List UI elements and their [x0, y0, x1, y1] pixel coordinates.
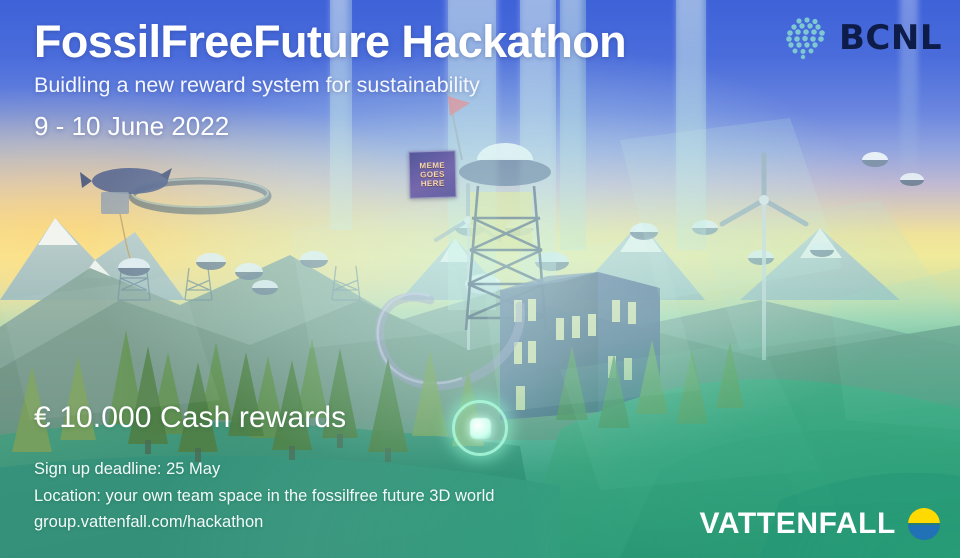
page-subtitle: Buidling a new reward system for sustain…	[34, 73, 794, 98]
hackathon-poster: MEME GOES HERE FossilFreeFuture Hackatho…	[0, 0, 960, 558]
page-title: FossilFreeFuture Hackathon	[34, 18, 794, 66]
vattenfall-logo: VATTENFALL	[699, 508, 940, 540]
vattenfall-mark-water	[908, 525, 940, 540]
location-text: Location: your own team space in the fos…	[34, 483, 734, 510]
signup-deadline-text: Sign up deadline: 25 May	[34, 456, 734, 483]
cash-reward-text: € 10.000 Cash rewards	[34, 401, 734, 435]
bcnl-logo: BCNL	[782, 14, 942, 62]
meme-sign-line-3: HERE	[421, 179, 445, 188]
event-dates: 9 - 10 June 2022	[34, 111, 794, 142]
meme-sign: MEME GOES HERE	[408, 150, 456, 198]
bcnl-dot-cluster-icon	[782, 14, 832, 62]
registration-url[interactable]: group.vattenfall.com/hackathon	[34, 509, 734, 536]
vattenfall-wordmark: VATTENFALL	[699, 509, 896, 539]
vattenfall-mark-sun	[908, 508, 940, 523]
header-text-block: FossilFreeFuture Hackathon Buidling a ne…	[34, 18, 794, 142]
meme-sign-line-1: MEME	[419, 161, 445, 170]
vattenfall-mark-icon	[908, 508, 940, 540]
meme-sign-line-2: GOES	[420, 170, 445, 179]
footer-text-block: € 10.000 Cash rewards Sign up deadline: …	[34, 401, 734, 536]
bcnl-wordmark: BCNL	[839, 21, 942, 55]
